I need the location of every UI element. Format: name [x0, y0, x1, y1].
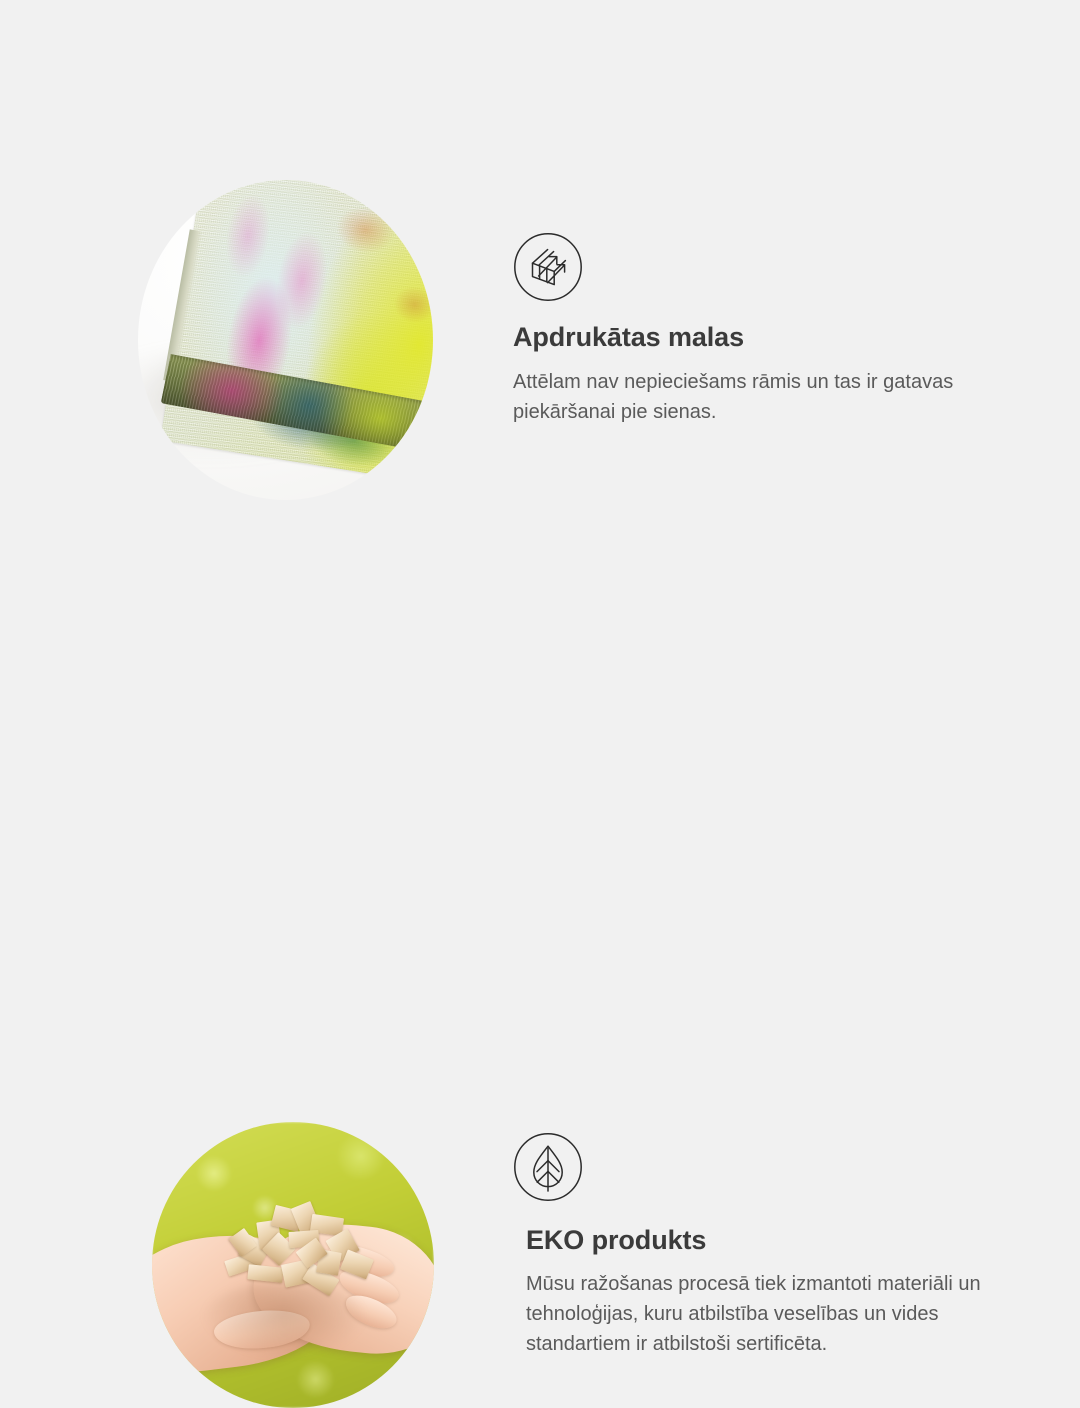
- feature-description: Mūsu ražošanas procesā tiek izmantoti ma…: [526, 1269, 1026, 1359]
- canvas-print-object: [155, 180, 433, 500]
- feature-title: EKO produkts: [526, 1225, 706, 1256]
- leaf-icon: [513, 1132, 583, 1202]
- feature-description: Attēlam nav nepieciešams rāmis un tas ir…: [513, 367, 1013, 427]
- wood-chip: [340, 1249, 374, 1279]
- wood-chip-pile: [220, 1202, 378, 1305]
- feature-printed-edges: Apdrukātas malas Attēlam nav nepieciešam…: [0, 0, 1080, 540]
- hands-holding-wood-chips-photo: [152, 1122, 434, 1408]
- wood-chip: [247, 1264, 283, 1283]
- feature-eko-product: EKO produkts Mūsu ražošanas procesā tiek…: [0, 540, 1080, 1080]
- printed-canvas-edge-icon: [513, 232, 583, 302]
- feature-title: Apdrukātas malas: [513, 322, 744, 353]
- canvas-print-corner-photo: [138, 180, 433, 500]
